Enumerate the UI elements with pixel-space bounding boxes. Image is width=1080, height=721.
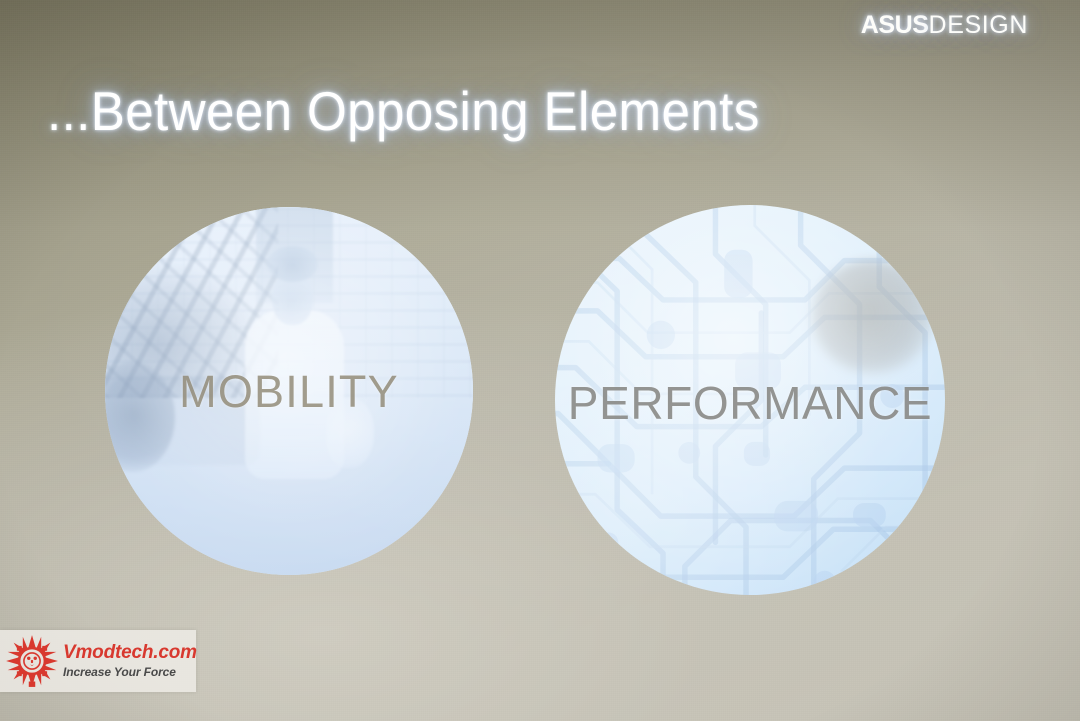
watermark-site-name: Vmodtech.com bbox=[63, 643, 197, 663]
vmodtech-watermark: Vmodtech.com Increase Your Force bbox=[0, 630, 196, 692]
watermark-tagline: Increase Your Force bbox=[63, 666, 197, 679]
brand-primary-text: ASUS bbox=[861, 11, 929, 39]
asus-design-logo: ASUSDESIGN bbox=[861, 13, 1028, 38]
brand-secondary-text: DESIGN bbox=[929, 11, 1028, 39]
watermark-text-group: Vmodtech.com Increase Your Force bbox=[63, 643, 197, 679]
circle-label-performance: PERFORMANCE bbox=[568, 380, 932, 426]
circle-mobility: MOBILITY bbox=[105, 207, 473, 575]
circle-performance: PERFORMANCE bbox=[555, 205, 945, 595]
circle-label-mobility: MOBILITY bbox=[179, 369, 399, 414]
projected-slide-photo: ASUSDESIGN ...Between Opposing Elements … bbox=[0, 0, 1080, 721]
slide-title: ...Between Opposing Elements bbox=[47, 83, 760, 141]
aztec-sunburst-icon bbox=[5, 633, 59, 689]
